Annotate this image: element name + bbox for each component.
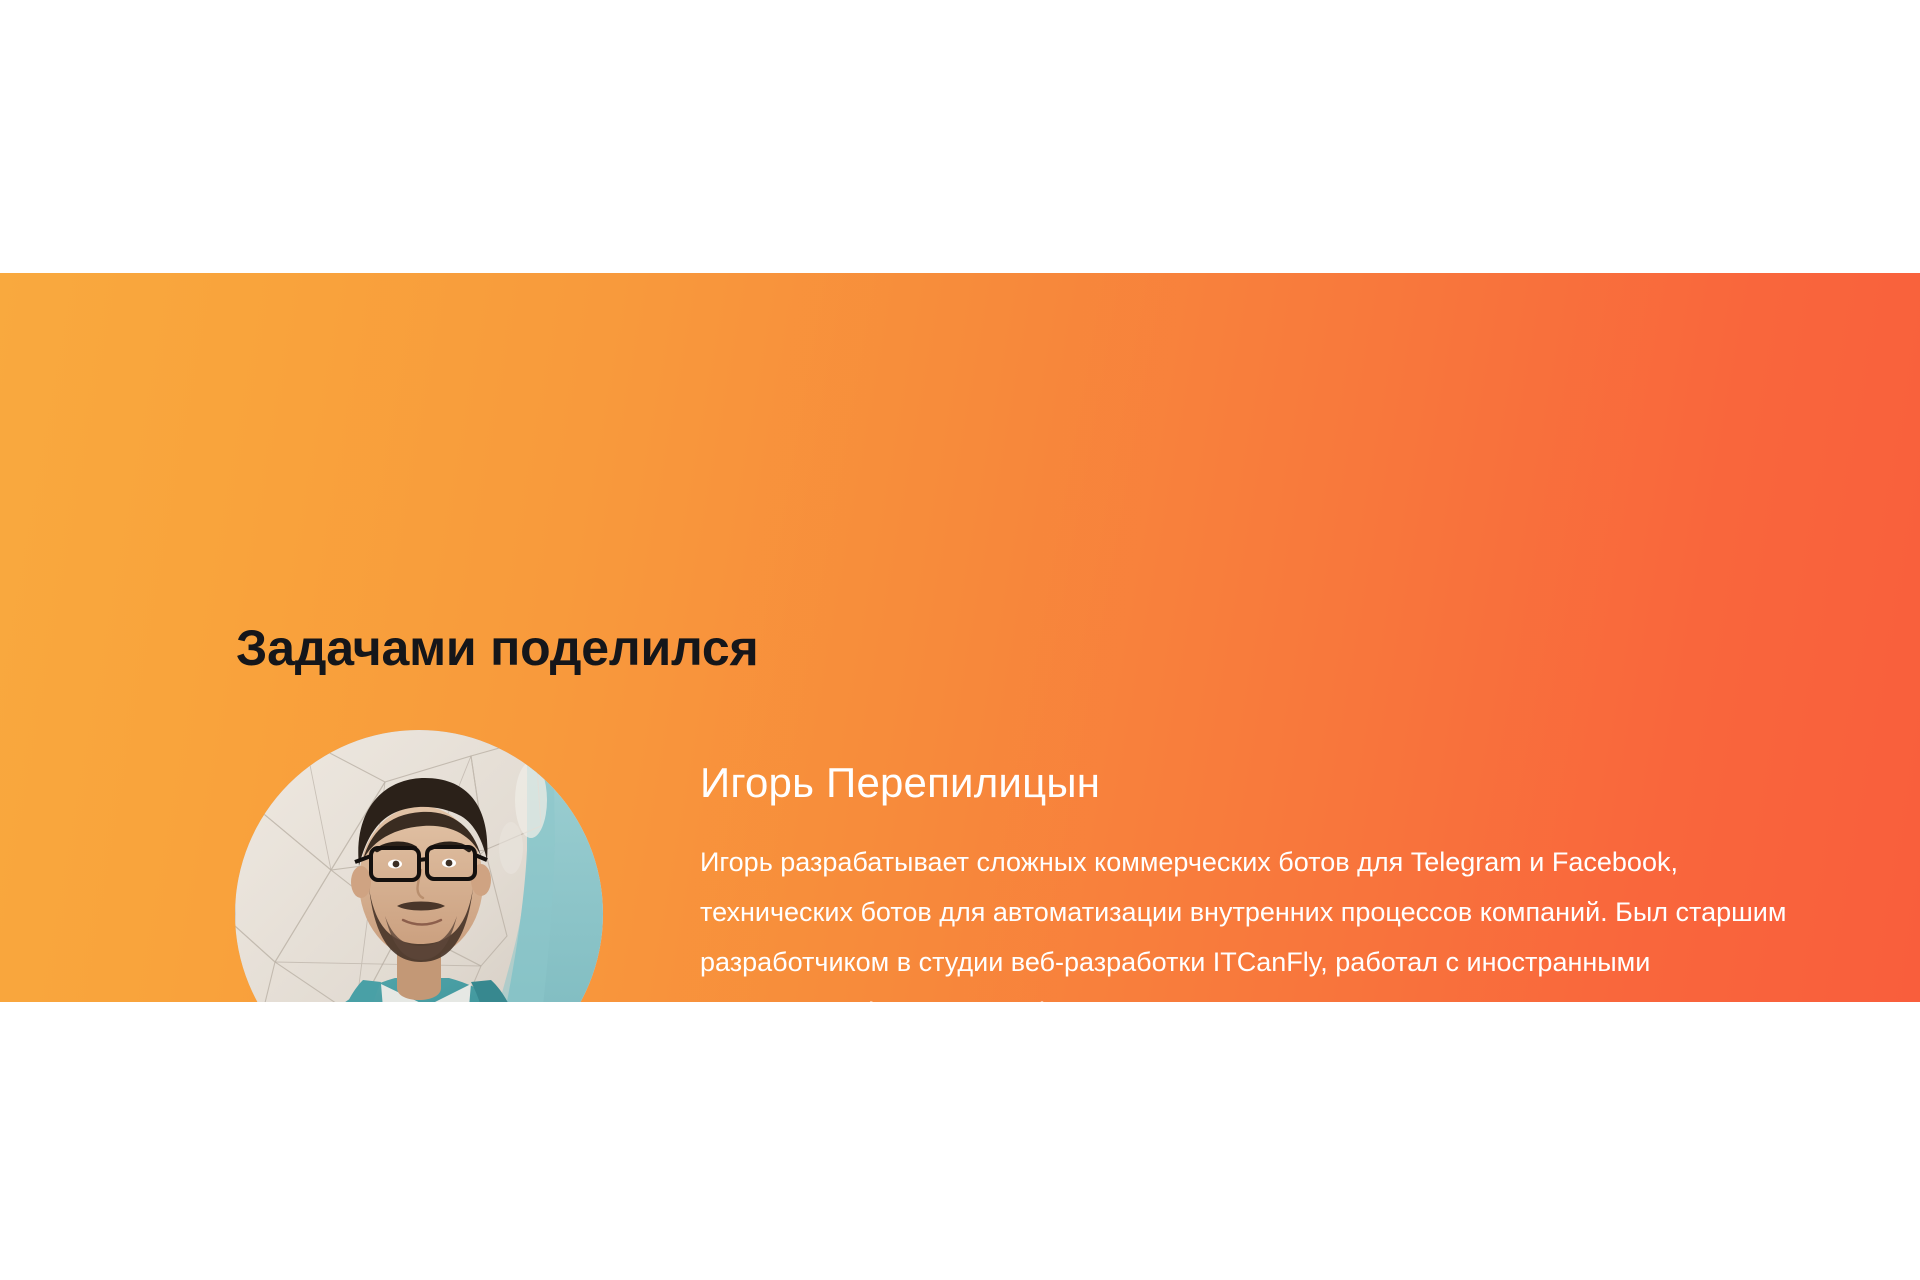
avatar (235, 730, 603, 1002)
person-info: Игорь Перепилицын Игорь разрабатывает сл… (700, 757, 1835, 1002)
page-title: Задачами поделился (236, 617, 759, 679)
page-root: Задачами поделился (0, 0, 1920, 1280)
promo-band: Задачами поделился (0, 273, 1920, 1002)
person-name: Игорь Перепилицын (700, 757, 1835, 809)
avatar-photo-icon (235, 730, 603, 1002)
person-bio: Игорь разрабатывает сложных коммерческих… (700, 837, 1810, 1002)
